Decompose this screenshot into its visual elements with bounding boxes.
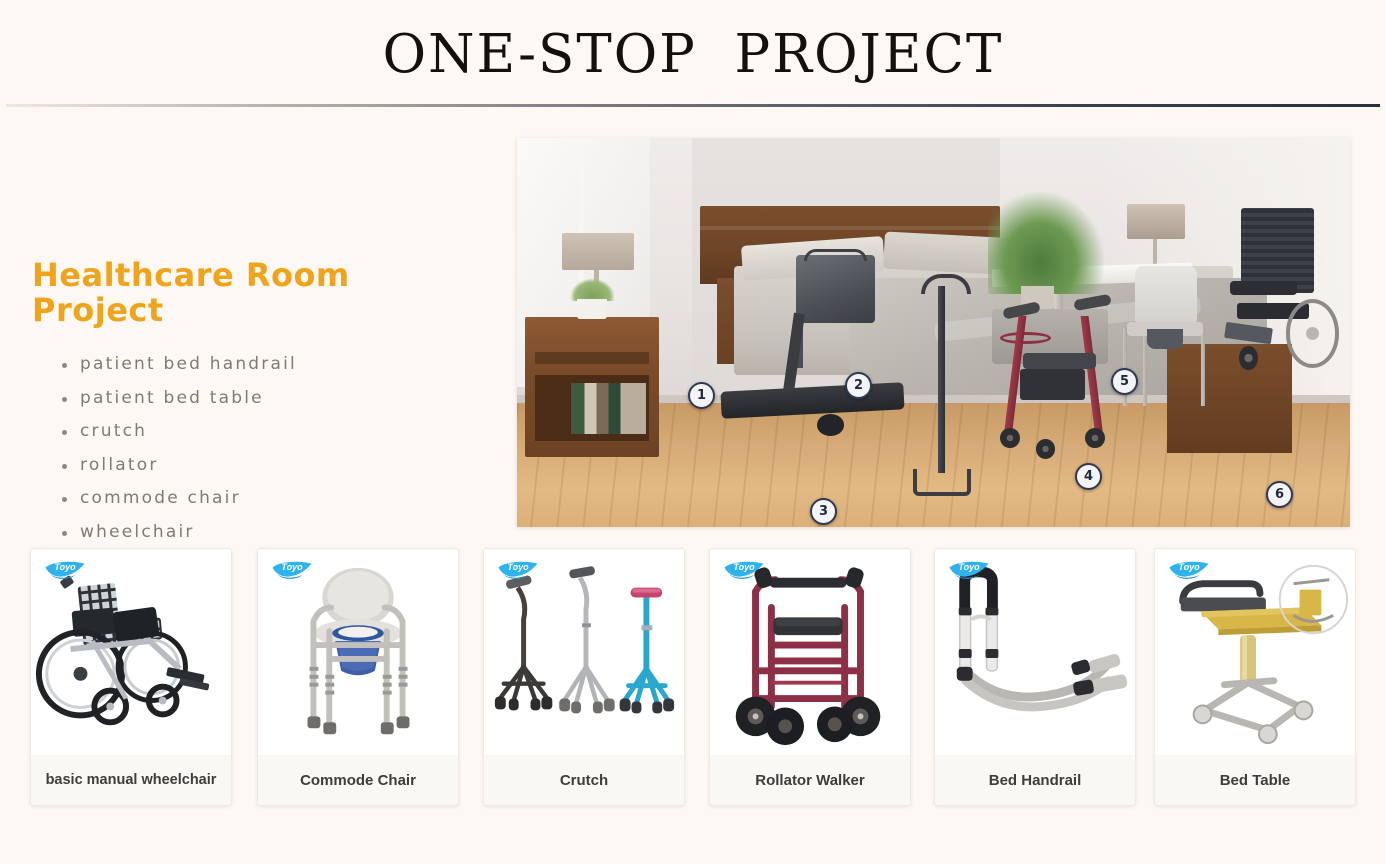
- product-card-rollator-walker[interactable]: Toyo Rollator Walker: [709, 548, 911, 806]
- wheelchair-in-scene: [1225, 208, 1342, 410]
- hotspot-marker-2[interactable]: 2: [845, 372, 872, 399]
- product-image-bed-table: Toyo: [1155, 549, 1355, 757]
- bullet-icon: [62, 497, 67, 502]
- svg-text:Toyo: Toyo: [507, 562, 529, 572]
- wheelchair-rear-wheel: [1286, 299, 1340, 368]
- toyo-brand-logo: Toyo: [946, 557, 992, 581]
- list-item: wheelchair: [32, 516, 492, 550]
- list-item-label: wheelchair: [80, 522, 195, 542]
- product-label: Rollator Walker: [710, 755, 910, 805]
- cane-quad-base: [913, 469, 971, 496]
- list-item-label: commode chair: [80, 488, 241, 508]
- toyo-brand-logo: Toyo: [1166, 557, 1212, 581]
- small-plant: [570, 278, 615, 301]
- rollator-wheel: [1085, 428, 1105, 448]
- bullet-icon: [62, 430, 67, 435]
- table-base-caster: [817, 414, 844, 435]
- svg-text:Toyo: Toyo: [733, 562, 755, 572]
- list-item: crutch: [32, 415, 492, 449]
- svg-text:Toyo: Toyo: [958, 562, 980, 572]
- list-item-label: patient bed table: [80, 388, 264, 408]
- toyo-brand-logo: Toyo: [269, 557, 315, 581]
- commode-leg: [1201, 328, 1205, 406]
- wheelchair-caster: [1239, 346, 1258, 370]
- list-item: patient bed table: [32, 382, 492, 416]
- product-label: basic manual wheelchair: [31, 755, 231, 805]
- rollator-handle-right: [1073, 294, 1111, 311]
- table-lamp-left: [562, 233, 634, 270]
- product-card-crutch[interactable]: Toyo Crutch: [483, 548, 685, 806]
- list-item: commode chair: [32, 482, 492, 516]
- product-label: Crutch: [484, 755, 684, 805]
- svg-text:Toyo: Toyo: [54, 562, 76, 572]
- slide-root: ONE-STOP PROJECT Healthcare Room Project…: [0, 0, 1386, 864]
- svg-text:Toyo: Toyo: [281, 562, 303, 572]
- wheelchair-armrest: [1230, 281, 1298, 295]
- commode-pail: [1147, 329, 1183, 349]
- bullet-icon: [62, 397, 67, 402]
- toyo-brand-logo: Toyo: [495, 557, 541, 581]
- product-card-bed-table[interactable]: Toyo Bed Table: [1154, 548, 1356, 806]
- product-image-wheelchair: Toyo: [31, 549, 231, 757]
- product-label: Bed Handrail: [935, 755, 1135, 805]
- slide-header: ONE-STOP PROJECT: [0, 0, 1386, 110]
- product-image-rollator-walker: Toyo: [710, 549, 910, 757]
- hotspot-marker-5[interactable]: 5: [1111, 368, 1138, 395]
- section-heading: Healthcare Room Project: [32, 258, 492, 328]
- hotspot-marker-3[interactable]: 3: [810, 498, 837, 525]
- svg-text:Toyo: Toyo: [1178, 562, 1200, 572]
- product-card-wheelchair[interactable]: Toyo basic manual wheelchair: [30, 548, 232, 806]
- product-card-strip: Toyo basic manual wheelchair: [30, 548, 1356, 808]
- hotspot-marker-4[interactable]: 4: [1075, 463, 1102, 490]
- headboard-seam: [700, 226, 1000, 231]
- feature-list: patient bed handrail patient bed table c…: [32, 348, 492, 549]
- list-item-label: crutch: [80, 421, 147, 441]
- product-label: Bed Table: [1155, 755, 1355, 805]
- rollator-arm-ring: [1000, 332, 1051, 344]
- list-item: rollator: [32, 449, 492, 483]
- toyo-brand-logo: Toyo: [42, 557, 88, 581]
- plant-pot: [577, 299, 607, 318]
- rollator-basket: [1020, 369, 1085, 400]
- books: [571, 383, 646, 434]
- nightstand-drawer: [535, 352, 648, 364]
- list-item-label: patient bed handrail: [80, 354, 297, 374]
- rollator-wheel: [1000, 428, 1020, 448]
- hero-room-image: 1 2 3 4 5 6: [517, 138, 1350, 527]
- bullet-icon: [62, 363, 67, 368]
- product-image-commode-chair: Toyo: [258, 549, 458, 757]
- cane-shaft: [938, 286, 945, 473]
- palm-plant: [988, 192, 1105, 293]
- wheelchair-footplate: [1224, 322, 1272, 345]
- commode-backrest: [1135, 266, 1197, 322]
- hotspot-marker-6[interactable]: 6: [1266, 481, 1293, 508]
- header-divider: [6, 104, 1380, 107]
- table-lamp-right: [1127, 204, 1185, 239]
- rollator-seat: [1023, 353, 1097, 369]
- handrail-grab-bar: [804, 249, 866, 261]
- toyo-brand-logo: Toyo: [721, 557, 767, 581]
- list-item-label: rollator: [80, 455, 159, 475]
- left-content-panel: Healthcare Room Project patient bed hand…: [32, 258, 492, 549]
- product-label: Commode Chair: [258, 755, 458, 805]
- product-image-bed-handrail: Toyo: [935, 549, 1135, 757]
- product-card-bed-handrail[interactable]: Toyo Bed Handrail: [934, 548, 1136, 806]
- bullet-icon: [62, 531, 67, 536]
- product-image-crutch: Toyo: [484, 549, 684, 757]
- bullet-icon: [62, 464, 67, 469]
- page-title: ONE-STOP PROJECT: [0, 24, 1386, 85]
- list-item: patient bed handrail: [32, 348, 492, 382]
- bed-handrail-in-scene: [796, 255, 875, 323]
- hotspot-marker-1[interactable]: 1: [688, 382, 715, 409]
- product-card-commode-chair[interactable]: Toyo Commode Chair: [257, 548, 459, 806]
